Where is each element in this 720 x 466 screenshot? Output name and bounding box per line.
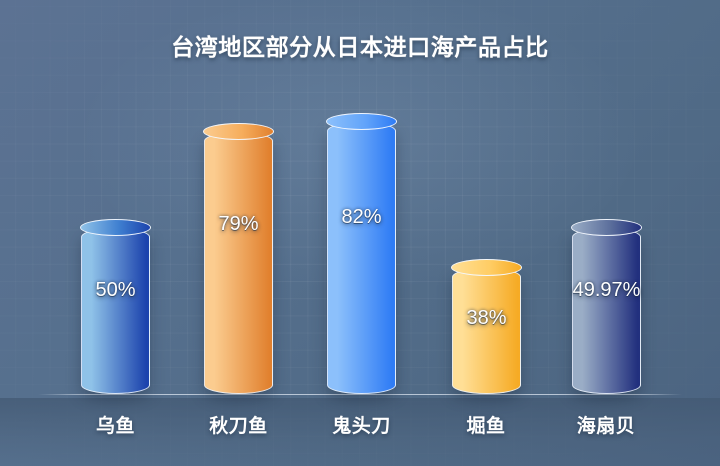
category-label-海扇贝: 海扇贝 xyxy=(536,411,676,438)
bar-body xyxy=(327,122,396,394)
bar-body xyxy=(81,228,150,394)
bar-乌鱼[interactable]: 50% xyxy=(81,228,150,394)
bar-top-cap xyxy=(80,219,151,236)
bar-body xyxy=(572,228,641,394)
category-label-乌鱼: 乌鱼 xyxy=(46,411,186,438)
bar-top-cap xyxy=(203,123,274,140)
bar-top-cap xyxy=(571,219,642,236)
bar-堀鱼[interactable]: 38% xyxy=(452,268,521,394)
bar-body xyxy=(204,132,273,394)
bar-top-cap xyxy=(326,113,397,130)
bar-秋刀鱼[interactable]: 79% xyxy=(204,132,273,394)
bar-鬼头刀[interactable]: 82% xyxy=(327,122,396,394)
chart-container: 台湾地区部分从日本进口海产品占比 50%乌鱼79%秋刀鱼82%鬼头刀38%堀鱼4… xyxy=(0,0,720,466)
category-label-秋刀鱼: 秋刀鱼 xyxy=(169,411,309,438)
bar-top-cap xyxy=(451,259,522,276)
plot-area: 50%乌鱼79%秋刀鱼82%鬼头刀38%堀鱼49.97%海扇贝 xyxy=(0,0,720,466)
bar-海扇贝[interactable]: 49.97% xyxy=(572,228,641,394)
category-label-堀鱼: 堀鱼 xyxy=(416,411,556,438)
category-label-鬼头刀: 鬼头刀 xyxy=(292,411,432,438)
bar-body xyxy=(452,268,521,394)
